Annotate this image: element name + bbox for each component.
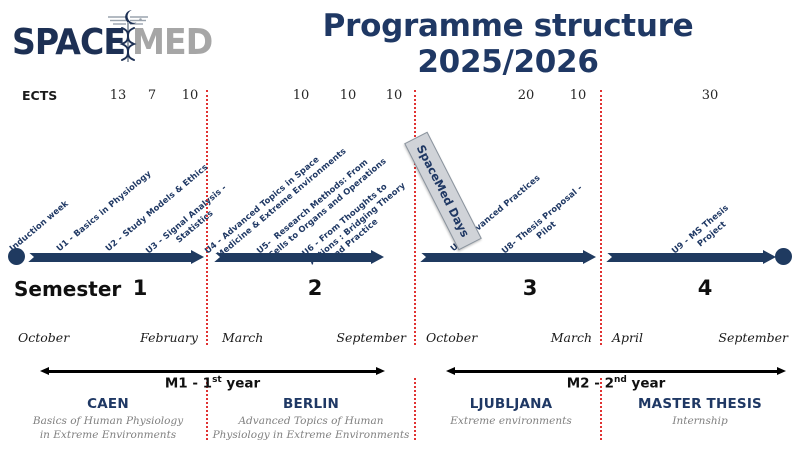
ects-value-3: 10: [175, 88, 205, 103]
span-arrow-head-icon: [40, 367, 49, 375]
timeline-arrow-semester-2: [212, 250, 384, 264]
ects-value-7: 20: [511, 88, 541, 103]
ects-value-8: 10: [563, 88, 593, 103]
arrow-head-icon: [763, 250, 776, 264]
year-label-main: M1 - 1: [165, 376, 212, 392]
location-master-thesis: MASTER THESISInternship: [612, 396, 788, 429]
span-arrow-head-icon: [446, 367, 455, 375]
location-ljubljana-description: Extreme environments: [424, 415, 598, 429]
divider-year-1-2-lower: [414, 378, 416, 440]
ects-value-4: 10: [286, 88, 316, 103]
arrow-head-icon: [583, 250, 596, 264]
semester-number-4: 4: [685, 276, 725, 300]
page-title: Programme structure 2025/2026: [228, 8, 788, 80]
ects-value-1: 13: [103, 88, 133, 103]
timeline-end-dot: [775, 248, 792, 265]
programme-structure-slide: SPACE MED Programme structure 2025/2026 …: [0, 0, 800, 450]
arrow-tail-notch: [26, 250, 34, 264]
location-caen-description: Basics of Human Physiologyin Extreme Env…: [18, 415, 198, 442]
arrow-shaft: [604, 253, 763, 262]
arrow-shaft: [26, 253, 191, 262]
month-september-s4: September: [718, 330, 788, 345]
timeline-start-dot: [8, 248, 25, 265]
ects-row-label: ECTS: [22, 88, 57, 103]
location-master-thesis-description: Internship: [612, 415, 788, 429]
span-bar: [48, 370, 377, 373]
ects-value-9: 30: [695, 88, 725, 103]
month-april-s4: April: [612, 330, 643, 345]
location-ljubljana-city: LJUBLJANA: [424, 396, 598, 412]
span-arrow-head-icon: [777, 367, 786, 375]
location-berlin: BERLINAdvanced Topics of HumanPhysiology…: [212, 396, 410, 442]
month-march-s3: March: [551, 330, 592, 345]
month-october-s3: October: [426, 330, 477, 345]
timeline-arrow-semester-4: [604, 250, 776, 264]
year-label-tail: year: [222, 376, 260, 392]
location-berlin-city: BERLIN: [212, 396, 410, 412]
arrow-tail-notch: [418, 250, 426, 264]
semester-number-3: 3: [510, 276, 550, 300]
location-ljubljana: LJUBLJANAExtreme environments: [424, 396, 598, 429]
location-master-thesis-city: MASTER THESIS: [612, 396, 788, 412]
arrow-tail-notch: [212, 250, 220, 264]
timeline-arrow-semester-3: [418, 250, 596, 264]
arrow-shaft: [212, 253, 371, 262]
year-label-ordinal: st: [212, 375, 222, 385]
location-caen: CAENBasics of Human Physiologyin Extreme…: [18, 396, 198, 442]
span-arrow-head-icon: [376, 367, 385, 375]
month-february-s1: February: [140, 330, 198, 345]
year-label-ordinal: nd: [614, 375, 627, 385]
year-m1-label: M1 - 1st year: [40, 375, 385, 392]
semester-number-1: 1: [120, 276, 160, 300]
location-berlin-description: Advanced Topics of HumanPhysiology in Ex…: [212, 415, 410, 442]
year-m2-label: M2 - 2nd year: [446, 375, 786, 392]
divider-semester-3-4: [600, 90, 602, 345]
timeline-arrow-semester-1: [26, 250, 204, 264]
caduceus-wings-moon-icon: [106, 6, 150, 64]
semester-label: Semester: [14, 277, 121, 301]
divider-year-1-2: [414, 90, 416, 345]
year-label-main: M2 - 2: [567, 376, 614, 392]
location-caen-city: CAEN: [18, 396, 198, 412]
arrow-tail-notch: [604, 250, 612, 264]
month-september-s2: September: [336, 330, 406, 345]
semester-number-2: 2: [295, 276, 335, 300]
arrow-head-icon: [191, 250, 204, 264]
month-october-s1: October: [18, 330, 69, 345]
spacemed-logo: SPACE MED: [10, 6, 215, 64]
ects-value-5: 10: [333, 88, 363, 103]
ects-value-2: 7: [137, 88, 167, 103]
arrow-head-icon: [371, 250, 384, 264]
month-march-s2: March: [222, 330, 263, 345]
unit-label-u1-basics-physiology: U1 - Basics in Physiology: [54, 168, 153, 253]
span-bar: [454, 370, 778, 373]
ects-value-6: 10: [379, 88, 409, 103]
year-label-tail: year: [627, 376, 665, 392]
arrow-shaft: [418, 253, 583, 262]
